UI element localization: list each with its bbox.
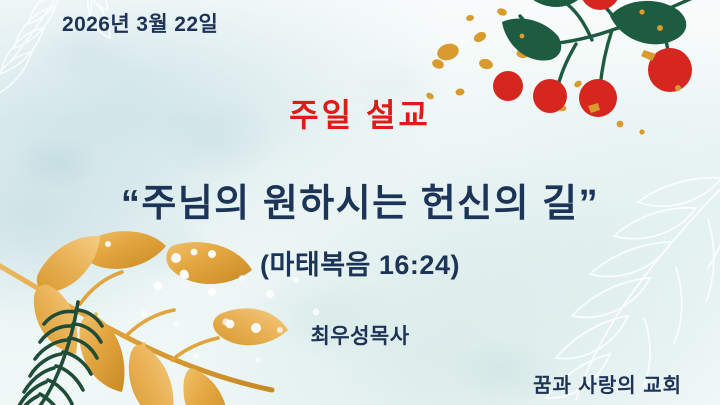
sermon-label: 주일 설교 — [0, 90, 720, 136]
sermon-date: 2026년 3월 22일 — [62, 8, 218, 38]
church-name: 꿈과 사랑의 교회 — [0, 369, 682, 398]
preacher-name: 최우성목사 — [0, 320, 720, 350]
scripture-reference: (마태복음 16:24) — [0, 243, 720, 282]
sermon-slide: 2026년 3월 22일 주일 설교 “주님의 원하시는 헌신의 길” (마태복… — [0, 0, 720, 405]
sermon-title: “주님의 원하시는 헌신의 길” — [0, 172, 720, 227]
